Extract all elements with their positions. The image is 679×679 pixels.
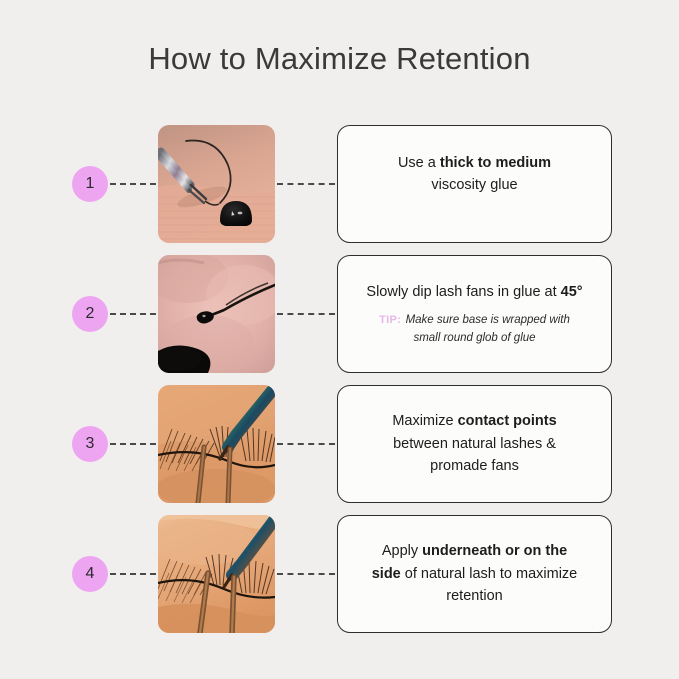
- step-tip-2: TIP: Make sure base is wrapped with smal…: [379, 310, 570, 347]
- step-number-badge-4: 4: [72, 556, 108, 592]
- tip-label: TIP:: [379, 314, 401, 326]
- step-number-badge-1: 1: [72, 166, 108, 202]
- step-photo-3: [158, 385, 275, 503]
- step-card-3: Maximize contact points between natural …: [337, 385, 612, 503]
- step-text-4-line-3: retention: [446, 585, 502, 607]
- connector-dash-right-4: [277, 573, 335, 575]
- step-photo-1: [158, 125, 275, 243]
- step-card-4: Apply underneath or on the side of natur…: [337, 515, 612, 633]
- connector-dash-right-3: [277, 443, 335, 445]
- step-row-3: 3: [0, 385, 679, 503]
- step-photo-4: [158, 515, 275, 633]
- infographic-canvas: How to Maximize Retention 1: [0, 0, 679, 679]
- step-text-3-line-3: promade fans: [430, 455, 519, 477]
- step-card-2: Slowly dip lash fans in glue at 45° TIP:…: [337, 255, 612, 373]
- step-row-1: 1: [0, 125, 679, 243]
- tip-text-line-1: Make sure base is wrapped with: [406, 314, 570, 326]
- step-text-4-line-1: Apply underneath or on the: [382, 540, 567, 562]
- step-card-1: Use a thick to medium viscosity glue: [337, 125, 612, 243]
- connector-dash-left-3: [110, 443, 156, 445]
- tip-text-line-2: small round glob of glue: [379, 330, 570, 347]
- step-text-1-line-2: viscosity glue: [431, 174, 517, 196]
- connector-dash-left-2: [110, 313, 156, 315]
- step-text-1-line-1: Use a thick to medium: [398, 152, 551, 174]
- connector-dash-right-1: [277, 183, 335, 185]
- step-row-2: 2: [0, 255, 679, 373]
- step-number-badge-2: 2: [72, 296, 108, 332]
- step-number-badge-3: 3: [72, 426, 108, 462]
- step-text-2-line-1: Slowly dip lash fans in glue at 45°: [366, 281, 582, 303]
- step-text-3-line-2: between natural lashes &: [393, 433, 556, 455]
- connector-dash-right-2: [277, 313, 335, 315]
- connector-dash-left-4: [110, 573, 156, 575]
- step-photo-2: [158, 255, 275, 373]
- step-text-4-line-2: side of natural lash to maximize: [372, 563, 578, 585]
- step-row-4: 4: [0, 515, 679, 633]
- page-title: How to Maximize Retention: [0, 41, 679, 77]
- connector-dash-left-1: [110, 183, 156, 185]
- step-text-3-line-1: Maximize contact points: [392, 410, 556, 432]
